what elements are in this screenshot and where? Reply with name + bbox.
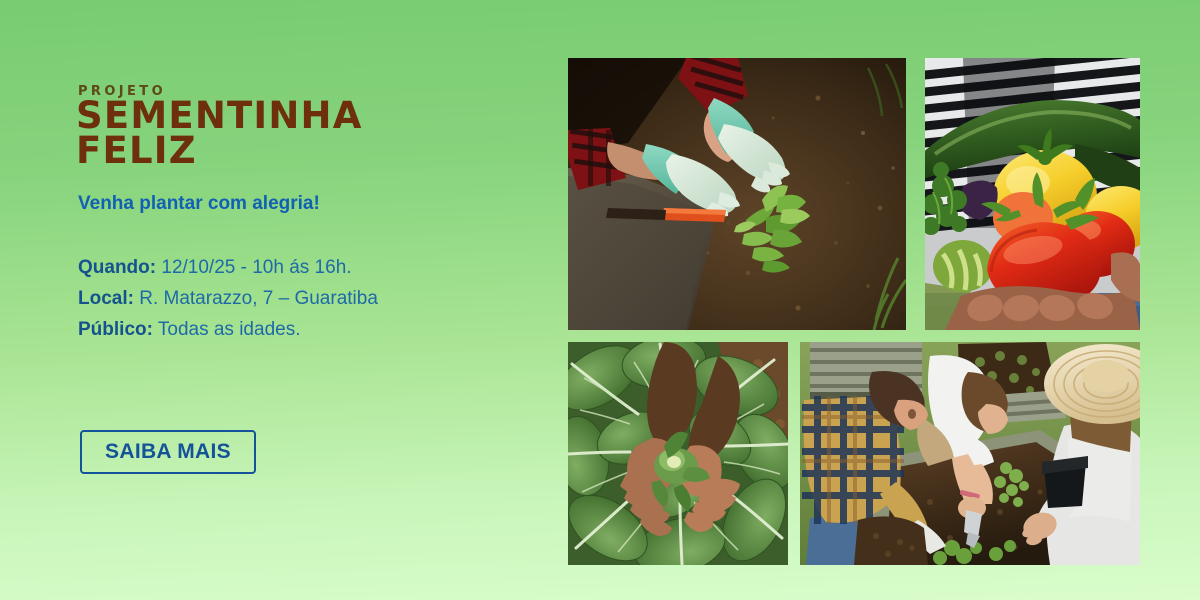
detail-row-publico: Público: Todas as idades. (78, 315, 378, 346)
event-details: Quando: 12/10/25 - 10h ás 16h. Local: R.… (78, 253, 378, 345)
detail-label-quando: Quando: (78, 257, 156, 278)
detail-label-local: Local: (78, 288, 134, 309)
photo-planting-hands (568, 58, 906, 330)
detail-value-quando: 12/10/25 - 10h ás 16h. (161, 257, 351, 278)
detail-row-local: Local: R. Matarazzo, 7 – Guaratiba (78, 284, 378, 315)
detail-value-local: R. Matarazzo, 7 – Guaratiba (139, 288, 378, 309)
detail-label-publico: Público: (78, 319, 153, 340)
detail-row-quando: Quando: 12/10/25 - 10h ás 16h. (78, 253, 378, 284)
photo-cabbage-hands (568, 342, 788, 565)
photo-vegetables (925, 58, 1140, 330)
photo-children (800, 342, 1140, 565)
flyer-text-column: PROJETO SEMENTINHA FELIZ Venha plantar c… (78, 0, 548, 600)
detail-value-publico: Todas as idades. (158, 319, 301, 340)
page-title: SEMENTINHA FELIZ (76, 98, 363, 168)
saiba-mais-button[interactable]: SAIBA MAIS (80, 430, 256, 474)
headline-line-1: SEMENTINHA (76, 98, 363, 133)
headline-line-2: FELIZ (76, 133, 363, 168)
tagline: Venha plantar com alegria! (78, 193, 320, 215)
